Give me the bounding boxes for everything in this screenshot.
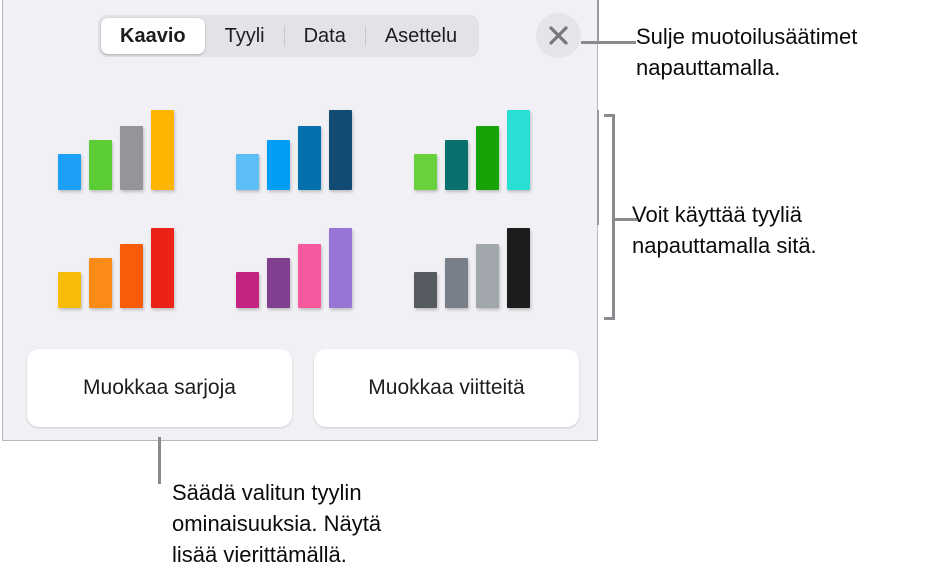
chart-style-thumbnail-6[interactable]	[383, 212, 561, 330]
style-bar	[445, 258, 468, 308]
style-bar	[89, 258, 112, 308]
tab-asettelu[interactable]: Asettelu	[366, 18, 476, 54]
style-bar	[120, 244, 143, 308]
edit-references-button[interactable]: Muokkaa viitteitä	[314, 349, 579, 427]
style-bar	[476, 244, 499, 308]
style-bar	[329, 228, 352, 308]
style-bar	[476, 126, 499, 190]
callout-close-text: Sulje muotoilusäätimet napauttamalla.	[636, 21, 936, 83]
panel-edge-line-styles	[597, 110, 599, 225]
style-bar	[298, 244, 321, 308]
style-bar	[507, 110, 530, 190]
style-bar	[236, 154, 259, 190]
style-bars	[58, 228, 174, 308]
chart-styles-grid[interactable]	[27, 94, 577, 330]
style-bar	[58, 272, 81, 308]
style-bar	[267, 258, 290, 308]
chart-style-thumbnail-4[interactable]	[27, 212, 205, 330]
style-bars	[414, 110, 530, 190]
chart-style-thumbnail-5[interactable]	[205, 212, 383, 330]
leader-line-close	[581, 41, 636, 44]
style-bar	[151, 110, 174, 190]
style-bar	[298, 126, 321, 190]
style-bar	[329, 110, 352, 190]
close-format-panel-button[interactable]	[536, 13, 581, 58]
style-bar	[58, 154, 81, 190]
style-bar	[445, 140, 468, 190]
style-bar	[236, 272, 259, 308]
callout-edit-text: Säädä valitun tyylin ominaisuuksia. Näyt…	[172, 477, 472, 570]
segmented-tab-bar[interactable]: KaavioTyyliDataAsettelu	[98, 15, 479, 57]
leader-line-edit	[158, 437, 161, 484]
chart-style-thumbnail-2[interactable]	[205, 94, 383, 212]
style-bars	[58, 110, 174, 190]
style-bars	[236, 110, 352, 190]
style-bar	[414, 154, 437, 190]
style-bar	[151, 228, 174, 308]
panel-edge-line-top	[597, 0, 599, 42]
close-icon	[547, 24, 570, 47]
style-bar	[414, 272, 437, 308]
tab-kaavio[interactable]: Kaavio	[101, 18, 205, 54]
callout-bracket-styles	[604, 114, 615, 320]
style-bar	[120, 126, 143, 190]
style-bars	[236, 228, 352, 308]
chart-style-thumbnail-3[interactable]	[383, 94, 561, 212]
style-bar	[267, 140, 290, 190]
panel-action-buttons: Muokkaa sarjojaMuokkaa viitteitä	[27, 349, 579, 427]
chart-style-thumbnail-1[interactable]	[27, 94, 205, 212]
edit-series-button[interactable]: Muokkaa sarjoja	[27, 349, 292, 427]
tab-tyyli[interactable]: Tyyli	[206, 18, 284, 54]
format-panel: KaavioTyyliDataAsettelu Muokkaa sarjojaM…	[2, 0, 598, 441]
style-bar	[89, 140, 112, 190]
style-bars	[414, 228, 530, 308]
style-bar	[507, 228, 530, 308]
callout-styles-text: Voit käyttää tyyliä napauttamalla sitä.	[632, 199, 932, 261]
tab-data[interactable]: Data	[285, 18, 365, 54]
